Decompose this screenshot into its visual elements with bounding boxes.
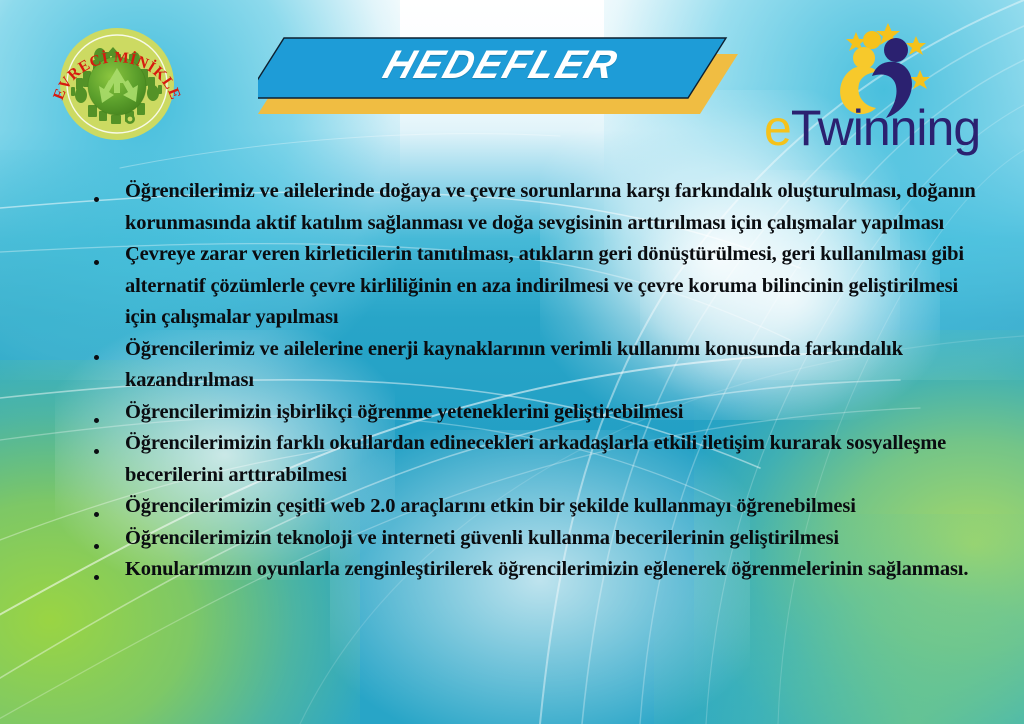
list-item-text: Çevreye zarar veren kirleticilerin tanıt… — [125, 239, 988, 334]
etwinning-e: e — [764, 100, 791, 156]
bullet-dot-icon — [88, 428, 125, 459]
cevreci-minikler-logo: ÇEVRECİ MİNİKLER — [43, 23, 191, 145]
list-item-text: Öğrencilerimizin teknoloji ve interneti … — [125, 523, 988, 555]
title-banner: HEDEFLER — [258, 32, 738, 114]
bullet-dot-icon — [88, 176, 125, 207]
slide-title-text: HEDEFLER — [378, 43, 624, 88]
list-item-text: Öğrencilerimiz ve ailelerine enerji kayn… — [125, 334, 988, 397]
list-item: Öğrencilerimiz ve ailelerinde doğaya ve … — [88, 176, 988, 239]
bullet-dot-icon — [88, 334, 125, 365]
objectives-list: Öğrencilerimiz ve ailelerinde doğaya ve … — [88, 176, 988, 586]
list-item: Konularımızın oyunlarla zenginleştiriler… — [88, 554, 988, 586]
list-item: Öğrencilerimizin çeşitli web 2.0 araçlar… — [88, 491, 988, 523]
bullet-dot-icon — [88, 397, 125, 428]
list-item-text: Öğrencilerimizin çeşitli web 2.0 araçlar… — [125, 491, 988, 523]
bullet-dot-icon — [88, 554, 125, 585]
etwinning-word: Twinning — [791, 100, 980, 156]
list-item: Öğrencilerimiz ve ailelerine enerji kayn… — [88, 334, 988, 397]
bullet-dot-icon — [88, 239, 125, 270]
list-item: Öğrencilerimizin işbirlikçi öğrenme yete… — [88, 397, 988, 429]
list-item: Öğrencilerimizin teknoloji ve interneti … — [88, 523, 988, 555]
list-item-text: Konularımızın oyunlarla zenginleştiriler… — [125, 554, 988, 586]
etwinning-wordmark: eTwinning — [764, 104, 1002, 152]
bullet-dot-icon — [88, 523, 125, 554]
list-item: Öğrencilerimizin farklı okullardan edine… — [88, 428, 988, 491]
list-item-text: Öğrencilerimiz ve ailelerinde doğaya ve … — [125, 176, 988, 239]
list-item-text: Öğrencilerimizin işbirlikçi öğrenme yete… — [125, 397, 988, 429]
etwinning-logo: eTwinning — [760, 18, 1004, 152]
bullet-dot-icon — [88, 491, 125, 522]
slide-title: HEDEFLER — [247, 32, 748, 98]
list-item-text: Öğrencilerimizin farklı okullardan edine… — [125, 428, 988, 491]
presentation-slide: ÇEVRECİ MİNİKLER HEDEFLER — [0, 0, 1024, 724]
list-item: Çevreye zarar veren kirleticilerin tanıt… — [88, 239, 988, 334]
